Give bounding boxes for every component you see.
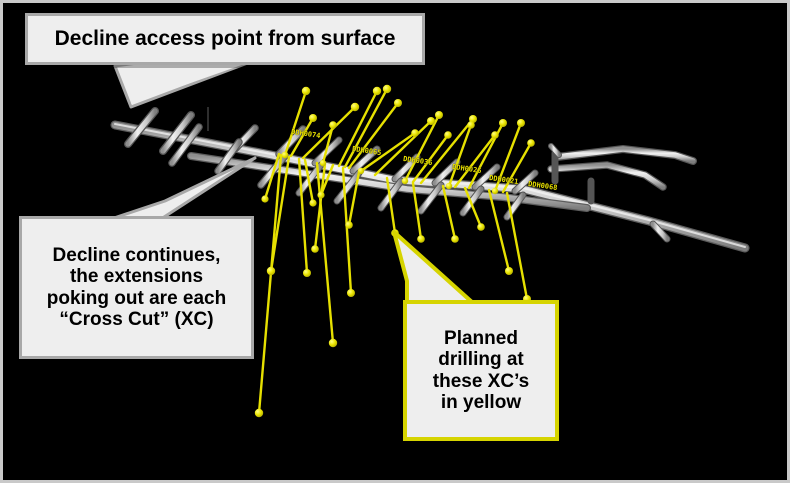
callout-tail [3,3,787,480]
slide-image: DDH0074 DDH0065 DDH0036 DDH0026 DDH0021 … [0,0,790,483]
callout-bubble[interactable]: Planned drilling at these XC’s in yellow [403,300,559,441]
callout-text: Planned drilling at these XC’s in yellow [433,328,529,413]
model-viewport: DDH0074 DDH0065 DDH0036 DDH0026 DDH0021 … [3,3,787,480]
